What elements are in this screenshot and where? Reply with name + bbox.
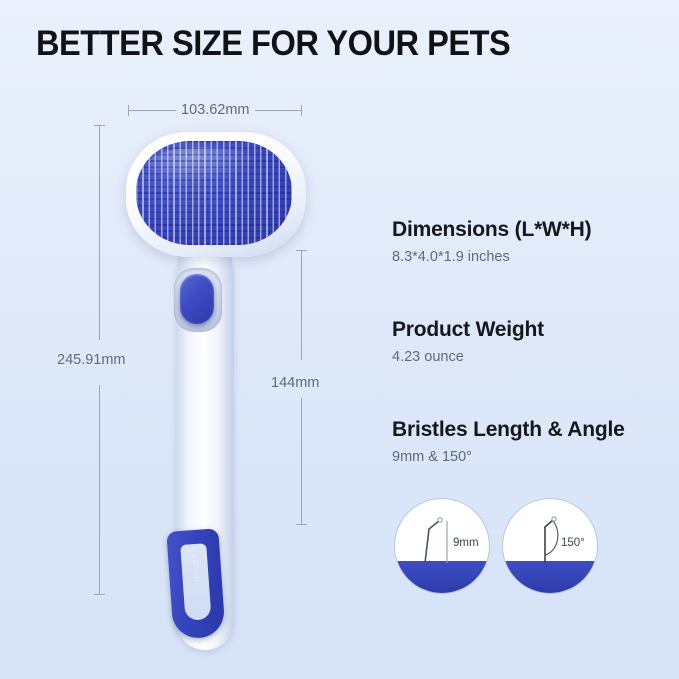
spec-bristles-title: Bristles Length & Angle <box>392 418 625 442</box>
bristle-length-diagram: 9mm <box>394 498 490 594</box>
spec-bristles-value: 9mm & 150° <box>392 449 625 465</box>
spec-weight-value: 4.23 ounce <box>392 349 544 365</box>
height-dimension-label: 245.91mm <box>57 352 126 368</box>
height-dimension-cap-bottom <box>94 594 105 595</box>
brush-pad-gloss <box>148 147 260 181</box>
bristle-angle-diagram: 150° <box>502 498 598 594</box>
spec-dimensions-value: 8.3*4.0*1.9 inches <box>392 249 591 265</box>
brush-bristle-pad <box>136 141 292 245</box>
spec-dimensions-title: Dimensions (L*W*H) <box>392 218 591 242</box>
spec-dimensions: Dimensions (L*W*H) 8.3*4.0*1.9 inches <box>392 218 591 265</box>
spec-weight: Product Weight 4.23 ounce <box>392 318 544 365</box>
bristle-angle-label: 150° <box>561 537 585 549</box>
hanging-strap: PETKIT <box>166 528 225 639</box>
spec-weight-title: Product Weight <box>392 318 544 342</box>
height-dimension-line-lower <box>99 385 100 595</box>
page-title: BETTER SIZE FOR YOUR PETS <box>36 24 510 64</box>
product-illustration: PETKIT <box>118 122 318 602</box>
height-dimension-line-upper <box>99 125 100 340</box>
width-dimension-label: 103.62mm <box>176 101 255 119</box>
retract-button <box>180 274 214 324</box>
height-dimension-cap-top <box>94 125 105 126</box>
width-dimension-cap-left <box>128 105 129 116</box>
bristle-length-label: 9mm <box>453 537 479 549</box>
width-dimension-cap-right <box>301 105 302 116</box>
spec-bristles: Bristles Length & Angle 9mm & 150° <box>392 418 625 465</box>
